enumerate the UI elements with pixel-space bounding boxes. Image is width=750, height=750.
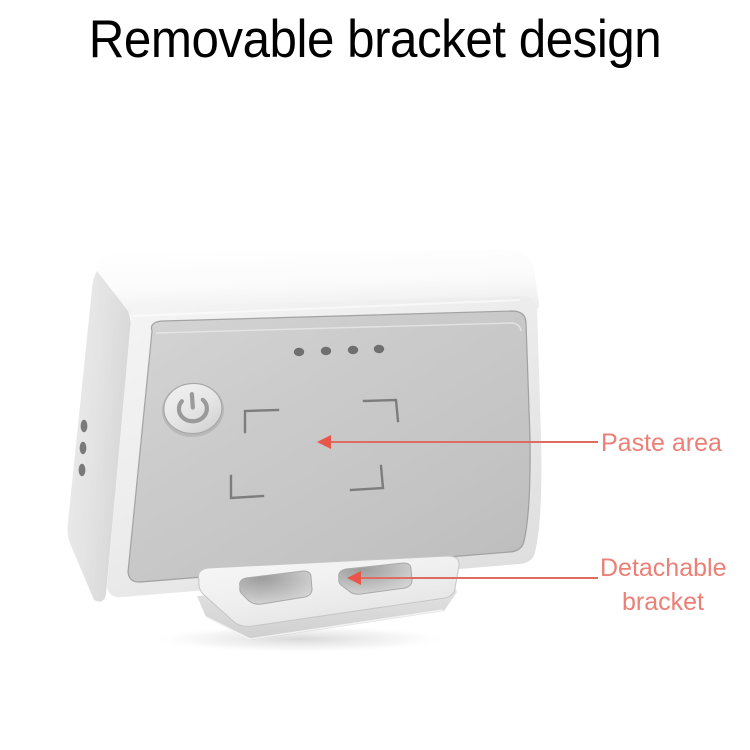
side-vent-dot bbox=[80, 442, 87, 454]
indicator-dot bbox=[294, 348, 304, 356]
indicator-dot bbox=[321, 347, 331, 355]
product-illustration bbox=[0, 0, 750, 750]
callout-label-detachable-line2: bracket bbox=[600, 585, 726, 619]
callout-label-paste-area: Paste area bbox=[601, 426, 722, 460]
indicator-dot bbox=[374, 345, 384, 353]
side-vent-dot bbox=[79, 464, 86, 476]
side-vent-dot bbox=[81, 420, 88, 432]
callout-line-paste-area bbox=[322, 441, 598, 443]
callout-arrow-detachable-bracket bbox=[347, 571, 361, 585]
detachable-bracket bbox=[197, 556, 459, 640]
product-image-canvas: Removable bracket design bbox=[0, 0, 750, 750]
device-body bbox=[68, 249, 542, 640]
callout-label-detachable-bracket: Detachable bracket bbox=[600, 551, 726, 619]
indicator-dot bbox=[348, 346, 358, 354]
callout-arrow-paste-area bbox=[317, 435, 331, 449]
callout-label-detachable-line1: Detachable bbox=[600, 554, 726, 582]
callout-line-detachable-bracket bbox=[352, 577, 598, 579]
